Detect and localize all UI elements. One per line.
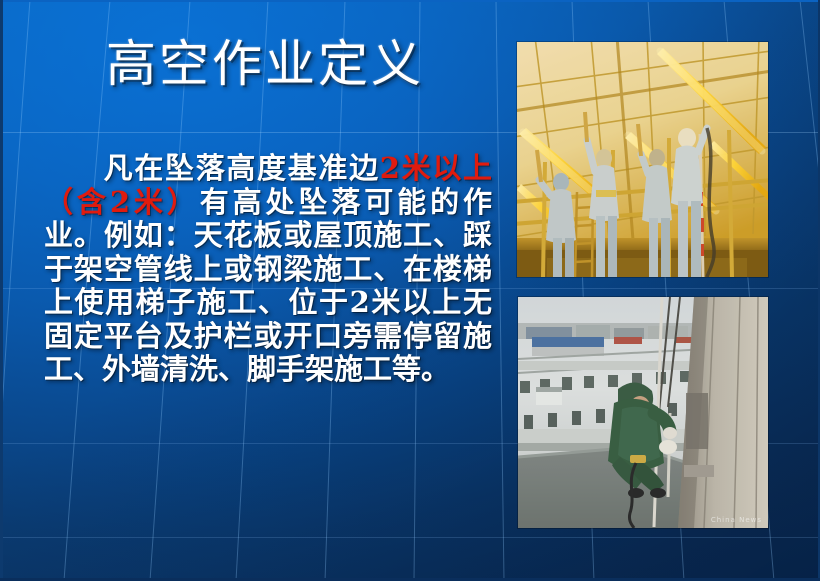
ceiling-work-illustration bbox=[517, 42, 768, 277]
slide-body-text: 凡在坠落高度基准边2米以上（含2米）有高处坠落可能的作业。例如：天花板或屋顶施工… bbox=[44, 152, 492, 387]
slide-title: 高空作业定义 bbox=[40, 34, 490, 94]
rope-access-illustration bbox=[518, 297, 768, 528]
slide-edge-left bbox=[0, 0, 3, 581]
slide-edge-top bbox=[0, 0, 820, 2]
ceiling-work-photo bbox=[517, 42, 768, 277]
body-text-part-1: 凡在坠落高度基准边 bbox=[102, 151, 380, 185]
rope-access-photo: China News bbox=[518, 297, 768, 528]
photo-watermark: China News bbox=[711, 516, 762, 524]
presentation-slide: 高空作业定义 凡在坠落高度基准边2米以上（含2米）有高处坠落可能的作业。例如：天… bbox=[0, 0, 820, 581]
background-hline-4 bbox=[0, 537, 820, 538]
